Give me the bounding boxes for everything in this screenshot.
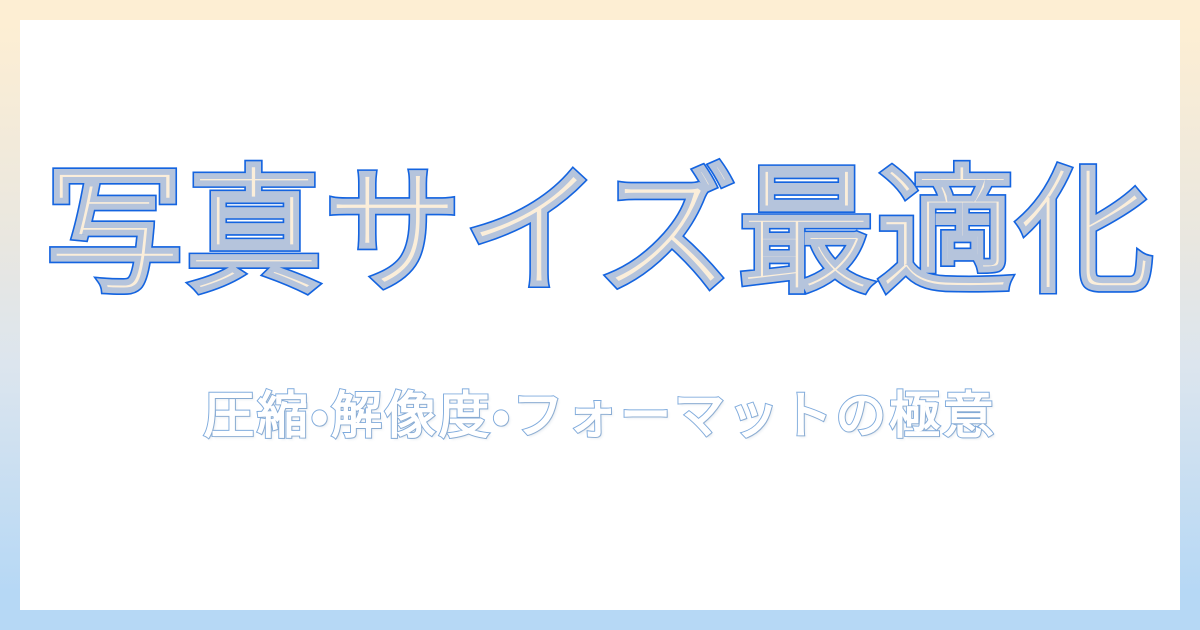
page-subtitle: 圧縮・解像度・フォーマットの極意 (203, 386, 997, 447)
title-block: 写真サイズ最適化 写真サイズ最適化 (20, 155, 1180, 310)
page-title: 写真サイズ最適化 (45, 155, 1154, 310)
subtitle-block: 圧縮・解像度・フォーマットの極意 (20, 386, 1180, 447)
inner-white-panel: 写真サイズ最適化 写真サイズ最適化 圧縮・解像度・フォーマットの極意 (20, 20, 1180, 610)
page-title-shadow: 写真サイズ最適化 (20, 155, 1180, 310)
og-image-card: 写真サイズ最適化 写真サイズ最適化 圧縮・解像度・フォーマットの極意 (0, 0, 1200, 630)
